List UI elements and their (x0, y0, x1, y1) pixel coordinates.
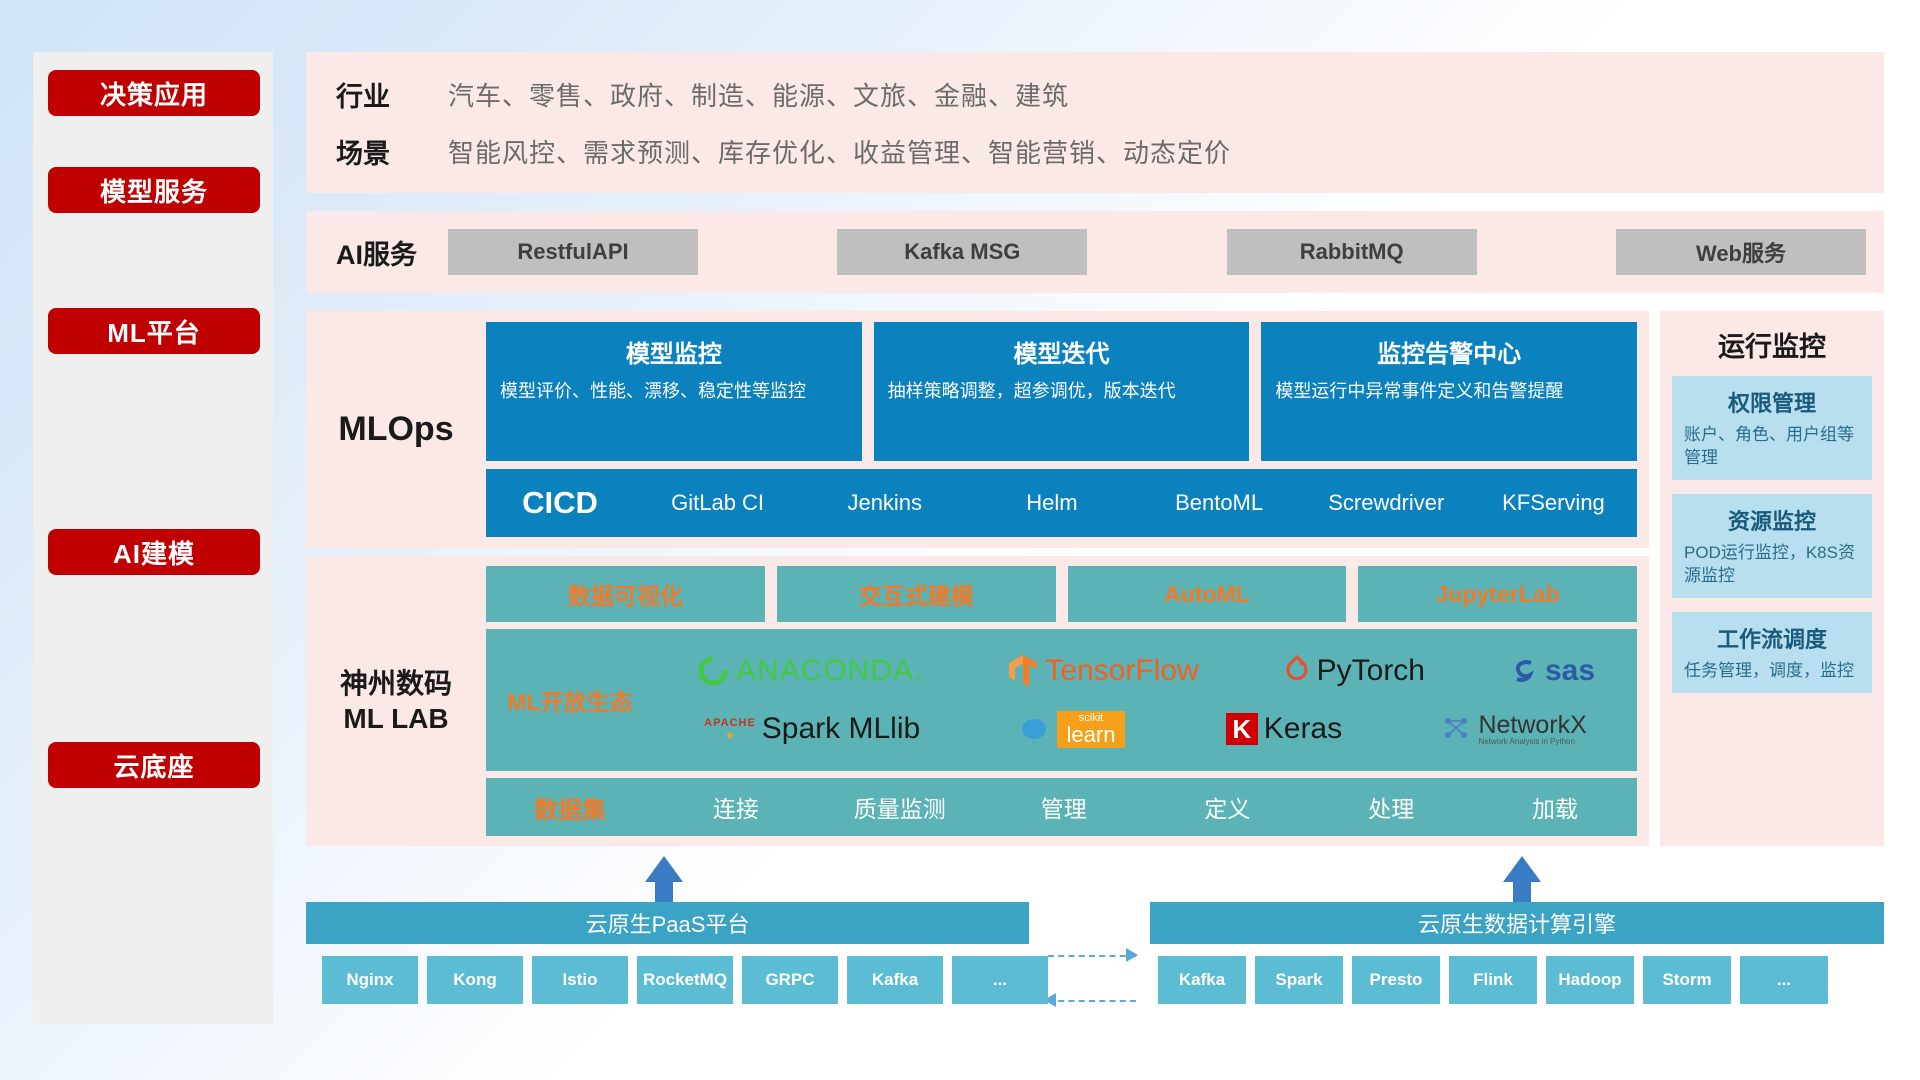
dataset-item-manage[interactable]: 管理 (982, 790, 1146, 824)
card-title: 工作流调度 (1684, 622, 1860, 654)
sas-label: sas (1545, 654, 1595, 688)
ml-lab-label: 神州数码 ML LAB (306, 556, 486, 846)
ecosystem-logo-row-2: APACHE ★ Spark MLlib scikit (654, 701, 1637, 757)
lab-tool-data-visualization[interactable]: 数据可视化 (486, 566, 765, 622)
tensorflow-icon (1007, 653, 1039, 689)
runtime-monitor-panel: 运行监控 权限管理 账户、角色、用户组等管理 资源监控 POD运行监控，K8S资… (1660, 311, 1884, 846)
card-title: 监控告警中心 (1275, 334, 1623, 369)
mlops-card-alert-center[interactable]: 监控告警中心 模型运行中异常事件定义和告警提醒 (1261, 322, 1637, 461)
cicd-item-helm[interactable]: Helm (968, 490, 1135, 515)
cicd-item-jenkins[interactable]: Jenkins (801, 490, 968, 515)
keras-label: Keras (1264, 712, 1342, 746)
chip-kafka-engine[interactable]: Kafka (1158, 956, 1246, 1004)
chip-rocketmq[interactable]: RocketMQ (637, 956, 733, 1004)
keras-logo: K Keras (1226, 712, 1342, 746)
arrow-stem-paas (655, 880, 673, 904)
dataset-item-connect[interactable]: 连接 (654, 790, 818, 824)
monitor-card-workflow[interactable]: 工作流调度 任务管理，调度，监控 (1672, 612, 1872, 693)
keras-icon: K (1226, 713, 1258, 745)
card-title: 模型迭代 (888, 334, 1236, 369)
stage-pill-decision-app[interactable]: 决策应用 (48, 70, 260, 116)
pytorch-logo: PyTorch (1283, 654, 1425, 688)
mlops-card-model-iteration[interactable]: 模型迭代 抽样策略调整，超参调优，版本迭代 (874, 322, 1250, 461)
chip-flink[interactable]: Flink (1449, 956, 1537, 1004)
service-box-rabbitmq[interactable]: RabbitMQ (1227, 229, 1477, 275)
pytorch-icon (1283, 654, 1311, 688)
sas-logo: sas (1509, 654, 1595, 688)
anaconda-logo: ANACONDA. (696, 654, 923, 688)
anaconda-icon (696, 654, 730, 688)
chip-spark[interactable]: Spark (1255, 956, 1343, 1004)
monitor-card-resource[interactable]: 资源监控 POD运行监控，K8S资源监控 (1672, 494, 1872, 598)
cloud-paas-bar[interactable]: 云原生PaaS平台 (306, 902, 1029, 944)
tensorflow-label: TensorFlow (1045, 654, 1198, 688)
learn-label: learn (1067, 724, 1116, 746)
ml-lab-label-line1: 神州数码 (340, 666, 452, 701)
ai-service-label: AI服务 (336, 233, 448, 272)
chip-more-engine[interactable]: ... (1740, 956, 1828, 1004)
lab-tool-jupyterlab[interactable]: JupyterLab (1358, 566, 1637, 622)
spark-apache-label: APACHE (704, 718, 756, 729)
ml-lab-band: 神州数码 ML LAB 数据可视化 交互式建模 AutoML JupyterLa… (306, 556, 1649, 846)
tensorflow-logo: TensorFlow (1007, 653, 1198, 689)
card-desc: 任务管理，调度，监控 (1684, 660, 1860, 683)
spark-star-icon: ★ (725, 729, 736, 741)
service-box-kafka-msg[interactable]: Kafka MSG (837, 229, 1087, 275)
pytorch-label: PyTorch (1317, 654, 1425, 688)
arrow-up-paas-icon (645, 856, 683, 882)
anaconda-label: ANACONDA. (736, 654, 923, 688)
dataset-item-quality[interactable]: 质量监测 (818, 790, 982, 824)
cicd-item-gitlab-ci[interactable]: GitLab CI (634, 490, 801, 515)
lab-tool-interactive-modeling[interactable]: 交互式建模 (777, 566, 1056, 622)
mlops-band: MLOps 模型监控 模型评价、性能、漂移、稳定性等监控 模型迭代 抽样策略调整… (306, 311, 1649, 548)
chip-hadoop[interactable]: Hadoop (1546, 956, 1634, 1004)
stage-pill-cloud-base[interactable]: 云底座 (48, 742, 260, 788)
spark-mllib-logo: APACHE ★ Spark MLlib (704, 712, 920, 746)
dataset-item-load[interactable]: 加载 (1473, 790, 1637, 824)
networkx-sublabel: Network Analysis in Python (1478, 738, 1586, 746)
scikit-learn-icon (1021, 716, 1051, 742)
mlops-card-model-monitoring[interactable]: 模型监控 模型评价、性能、漂移、稳定性等监控 (486, 322, 862, 461)
card-title: 资源监控 (1684, 504, 1860, 536)
application-row-scenario: 场景 智能风控、需求预测、库存优化、收益管理、智能营销、动态定价 (336, 132, 1884, 171)
runtime-monitor-title: 运行监控 (1660, 311, 1884, 376)
engine-chip-row: Kafka Spark Presto Flink Hadoop Storm ..… (1158, 956, 1828, 1004)
card-desc: 模型运行中异常事件定义和告警提醒 (1275, 379, 1623, 403)
paas-chip-row: Nginx Kong Istio RocketMQ GRPC Kafka ... (322, 956, 1048, 1004)
spark-mllib-label: Spark MLlib (762, 712, 920, 746)
lab-tool-automl[interactable]: AutoML (1068, 566, 1347, 622)
dashed-arrow-right-icon (1126, 946, 1142, 964)
scenario-text: 智能风控、需求预测、库存优化、收益管理、智能营销、动态定价 (448, 133, 1231, 170)
scenario-label: 场景 (336, 132, 448, 171)
card-title: 权限管理 (1684, 386, 1860, 418)
cicd-bar: CICD GitLab CI Jenkins Helm BentoML Scre… (486, 469, 1637, 537)
cicd-item-bentoml[interactable]: BentoML (1136, 490, 1303, 515)
chip-storm[interactable]: Storm (1643, 956, 1731, 1004)
stage-pill-model-service[interactable]: 模型服务 (48, 167, 260, 213)
monitor-card-permission[interactable]: 权限管理 账户、角色、用户组等管理 (1672, 376, 1872, 480)
application-row-industry: 行业 汽车、零售、政府、制造、能源、文旅、金融、建筑 (336, 75, 1884, 114)
dataset-title: 数据集 (486, 790, 654, 825)
stage-pill-ai-modeling[interactable]: AI建模 (48, 529, 260, 575)
dataset-item-process[interactable]: 处理 (1309, 790, 1473, 824)
chip-kafka-paas[interactable]: Kafka (847, 956, 943, 1004)
cicd-item-screwdriver[interactable]: Screwdriver (1303, 490, 1470, 515)
card-desc: 抽样策略调整，超参调优，版本迭代 (888, 379, 1236, 403)
service-box-restfulapi[interactable]: RestfulAPI (448, 229, 698, 275)
chip-grpc[interactable]: GRPC (742, 956, 838, 1004)
ml-ecosystem-label: ML开放生态 (486, 683, 654, 717)
cicd-item-kfserving[interactable]: KFServing (1470, 490, 1637, 515)
networkx-icon (1442, 715, 1472, 743)
sas-icon (1509, 656, 1539, 686)
networkx-label: NetworkX (1478, 712, 1586, 738)
dataset-bar: 数据集 连接 质量监测 管理 定义 处理 加载 (486, 778, 1637, 836)
chip-presto[interactable]: Presto (1352, 956, 1440, 1004)
mlops-label: MLOps (306, 311, 486, 548)
chip-more-paas[interactable]: ... (952, 956, 1048, 1004)
dashed-connector-bottom (1048, 1000, 1136, 1002)
applications-band: 行业 汽车、零售、政府、制造、能源、文旅、金融、建筑 场景 智能风控、需求预测、… (306, 52, 1884, 193)
stage-column: 决策应用 模型服务 ML平台 AI建模 云底座 (33, 52, 273, 1024)
card-desc: 账户、角色、用户组等管理 (1684, 424, 1860, 470)
ml-ecosystem-bar: ML开放生态 ANACONDA. (486, 629, 1637, 771)
ecosystem-logo-row-1: ANACONDA. TensorFlow (654, 643, 1637, 699)
arrow-up-engine-icon (1503, 856, 1541, 882)
arrow-stem-engine (1513, 880, 1531, 904)
stage-pill-ml-platform[interactable]: ML平台 (48, 308, 260, 354)
cicd-title: CICD (486, 485, 634, 521)
service-box-web-service[interactable]: Web服务 (1616, 229, 1866, 275)
card-title: 模型监控 (500, 334, 848, 369)
chip-nginx[interactable]: Nginx (322, 956, 418, 1004)
cloud-engine-bar[interactable]: 云原生数据计算引擎 (1150, 902, 1884, 944)
ml-lab-label-line2: ML LAB (343, 701, 448, 736)
dataset-item-define[interactable]: 定义 (1145, 790, 1309, 824)
networkx-logo: NetworkX Network Analysis in Python (1442, 712, 1586, 747)
card-desc: 模型评价、性能、漂移、稳定性等监控 (500, 379, 848, 403)
dashed-connector-top (1048, 955, 1136, 957)
ai-service-band: AI服务 RestfulAPI Kafka MSG RabbitMQ Web服务 (306, 211, 1884, 293)
industry-label: 行业 (336, 75, 448, 114)
industry-text: 汽车、零售、政府、制造、能源、文旅、金融、建筑 (448, 76, 1069, 113)
scikit-learn-logo: scikit learn (1021, 711, 1126, 748)
architecture-diagram: 决策应用 模型服务 ML平台 AI建模 云底座 行业 汽车、零售、政府、制造、能… (0, 0, 1920, 1080)
chip-kong[interactable]: Kong (427, 956, 523, 1004)
card-desc: POD运行监控，K8S资源监控 (1684, 542, 1860, 588)
chip-istio[interactable]: Istio (532, 956, 628, 1004)
